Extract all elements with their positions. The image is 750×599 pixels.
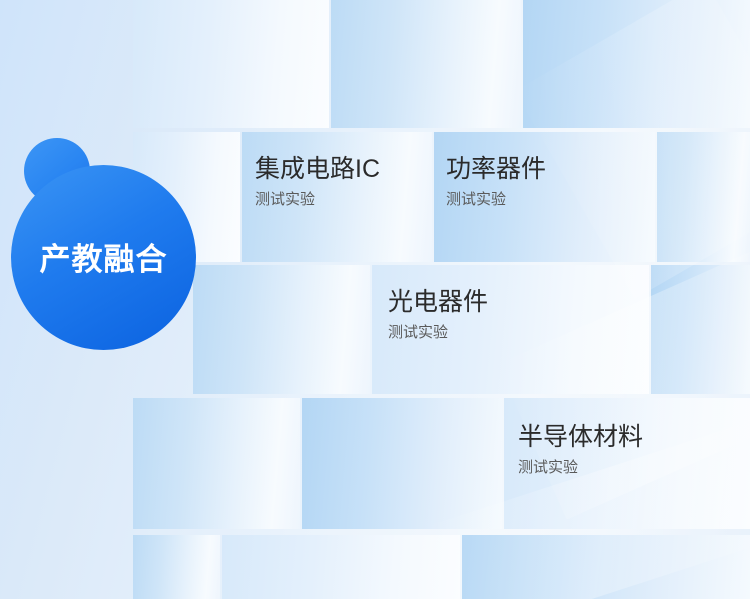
card-integrated-circuit[interactable]: 集成电路IC 测试实验 [255, 155, 380, 209]
badge-circle: 产教融合 [11, 165, 196, 350]
card-power-device[interactable]: 功率器件 测试实验 [446, 155, 546, 209]
card-subtitle: 测试实验 [518, 459, 643, 477]
card-subtitle: 测试实验 [388, 324, 488, 342]
card-title: 半导体材料 [518, 423, 643, 452]
bg-tile [462, 535, 750, 599]
bg-tile [302, 398, 502, 529]
promo-banner: 产教融合 集成电路IC 测试实验 功率器件 测试实验 光电器件 测试实验 半导体… [0, 0, 750, 599]
card-title: 功率器件 [446, 155, 546, 184]
card-title: 集成电路IC [255, 155, 380, 184]
card-semiconductor-material[interactable]: 半导体材料 测试实验 [518, 423, 643, 477]
bg-tile [133, 0, 329, 128]
bg-tile [133, 535, 220, 599]
fusion-badge: 产教融合 [0, 130, 210, 305]
card-subtitle: 测试实验 [255, 191, 380, 209]
bg-tile [331, 0, 521, 128]
card-subtitle: 测试实验 [446, 191, 546, 209]
bg-tile [222, 535, 460, 599]
card-optoelectronic-device[interactable]: 光电器件 测试实验 [388, 288, 488, 342]
bg-tile [657, 132, 750, 262]
bg-tile [523, 0, 750, 128]
bg-tile [133, 398, 300, 529]
bg-tile [193, 265, 370, 394]
badge-label: 产教融合 [40, 244, 168, 275]
bg-tile [651, 265, 750, 394]
card-title: 光电器件 [388, 288, 488, 317]
